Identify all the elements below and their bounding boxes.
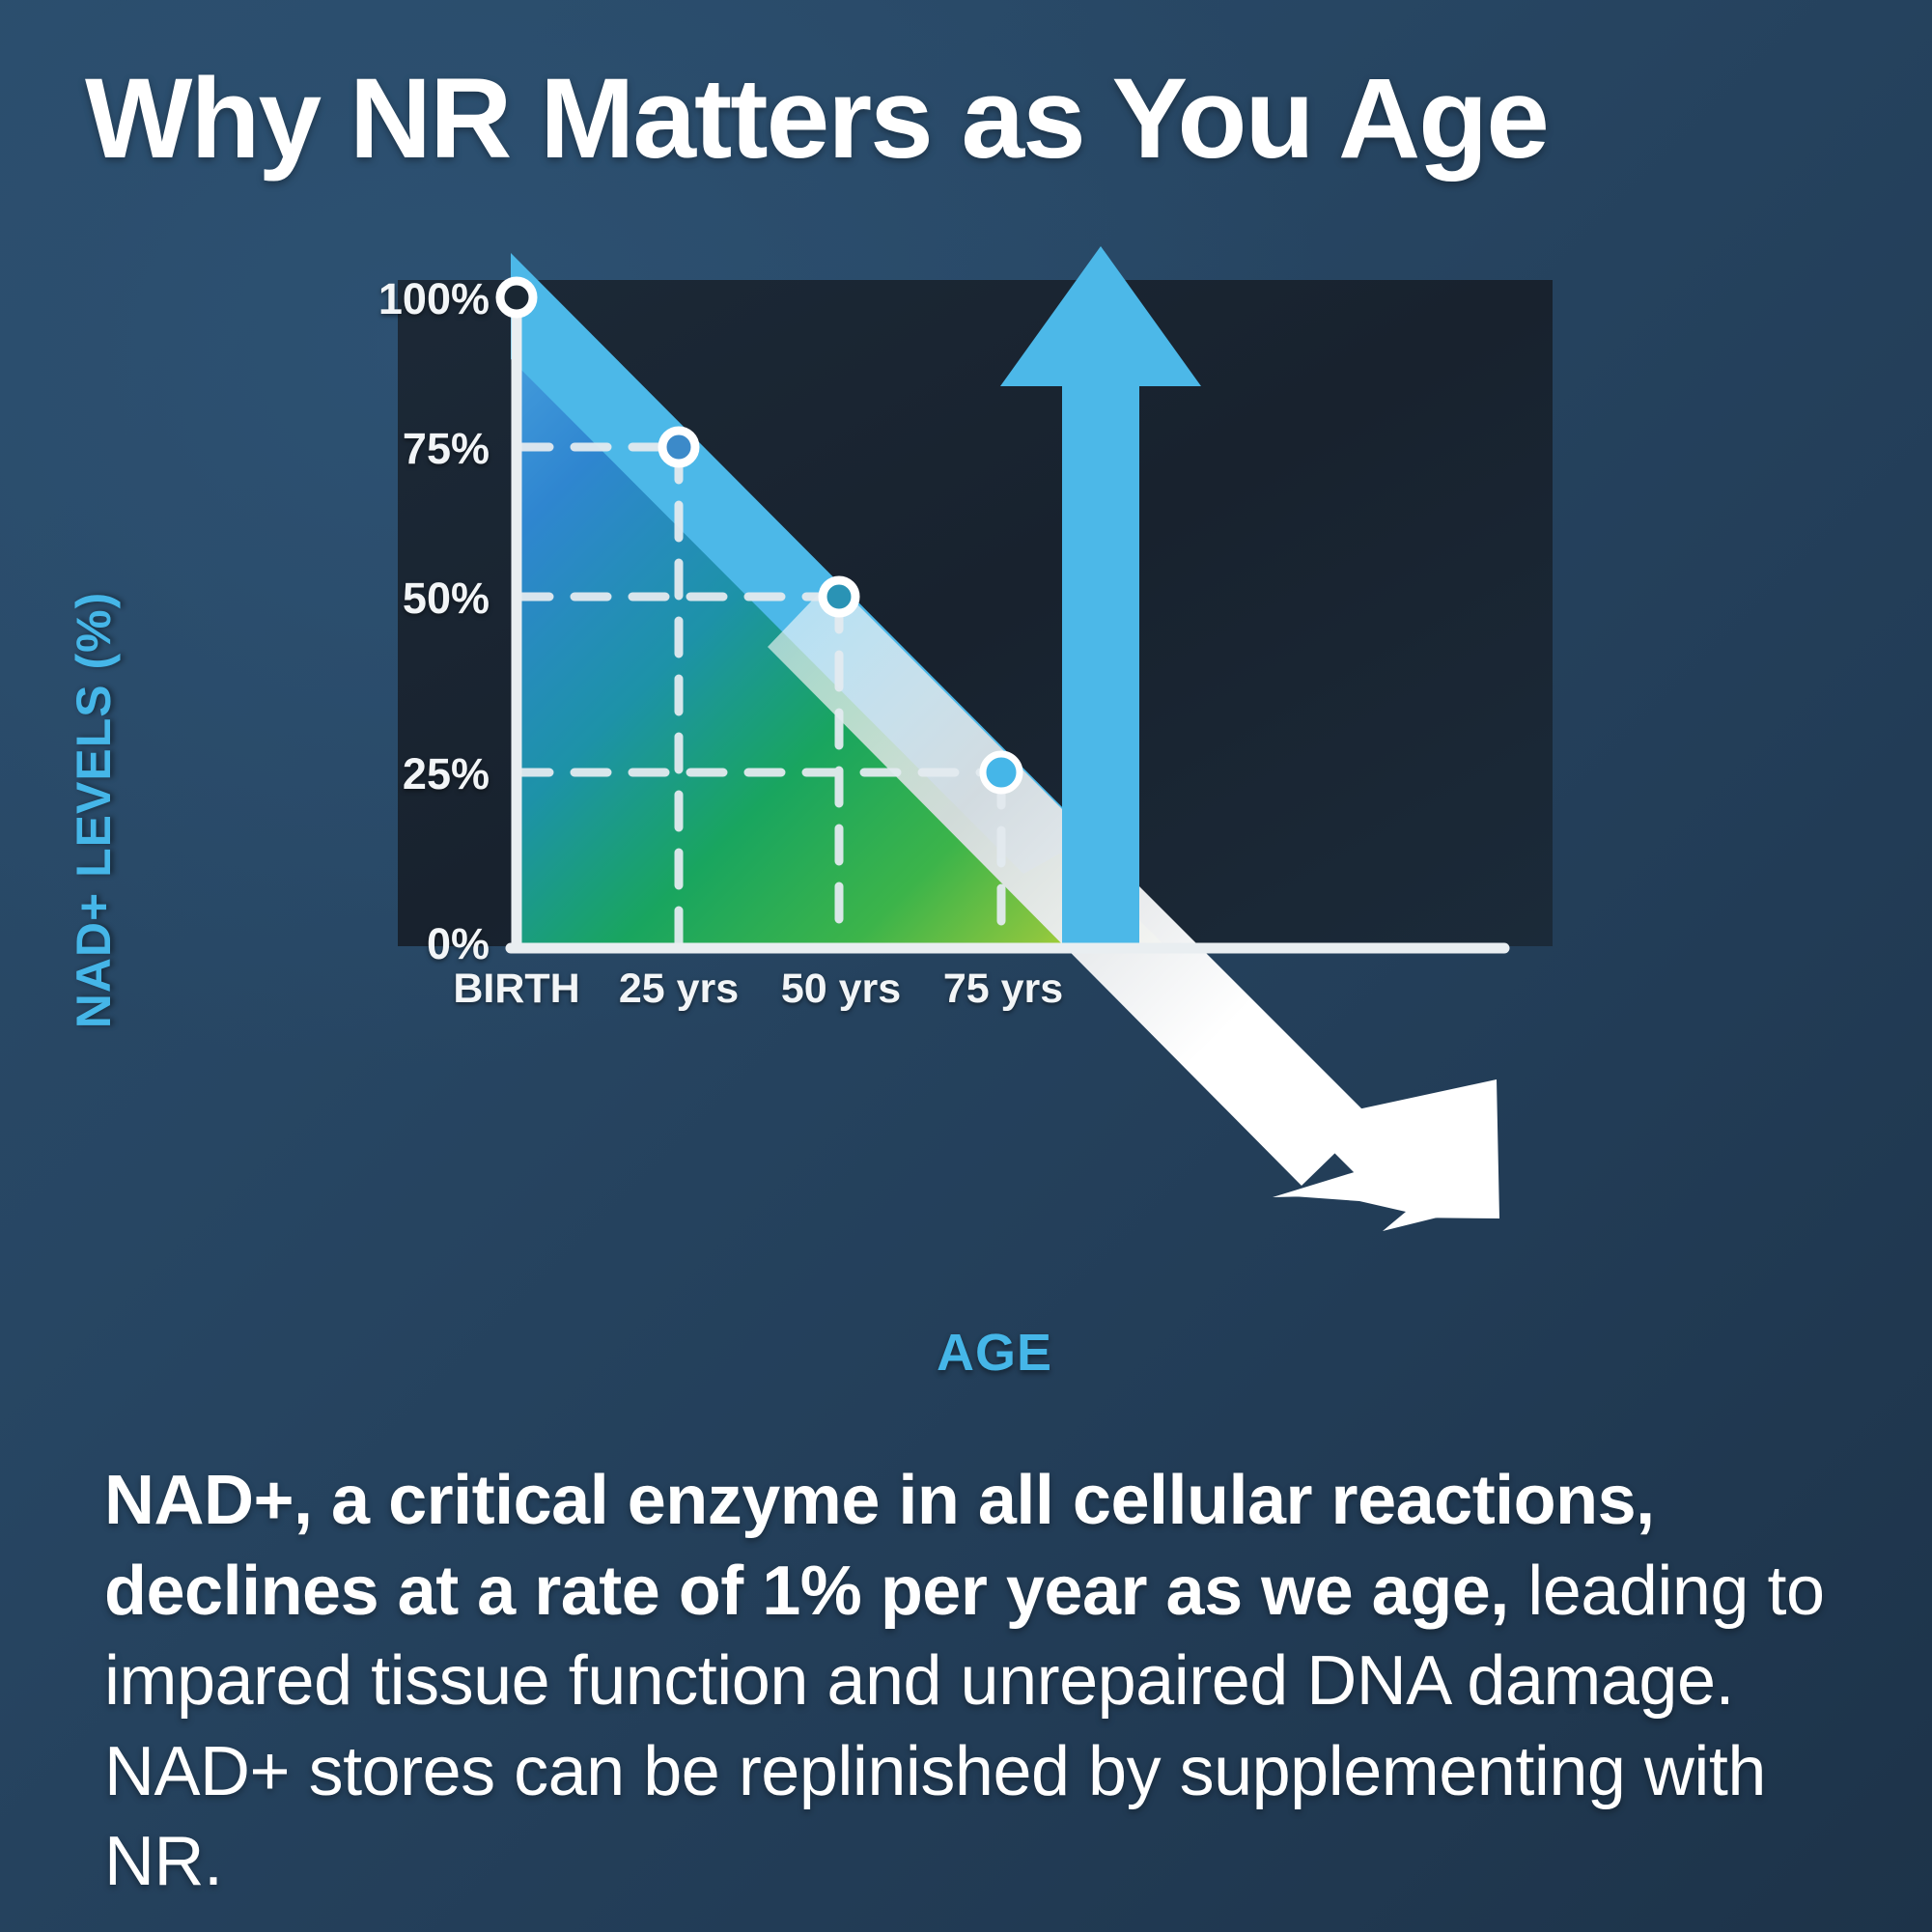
body-paragraph: NAD+, a critical enzyme in all cellular … [104, 1456, 1852, 1908]
y-axis-title: NAD+ LEVELS (%) [66, 559, 122, 1061]
y-tick-label-100: 100% [345, 274, 490, 324]
x-tick-label-75yrs: 75 yrs [878, 966, 1129, 1013]
infographic-page: Why NR Matters as You Age [0, 0, 1932, 1932]
white-decline-arrow-head-fill [1273, 1079, 1499, 1218]
body-paragraph-bold: NAD+, a critical enzyme in all cellular … [104, 1462, 1655, 1630]
y-tick-label-0: 0% [345, 919, 490, 969]
white-decline-arrow-head [1279, 1083, 1494, 1231]
page-title: Why NR Matters as You Age [85, 60, 1871, 180]
x-axis-title: AGE [869, 1323, 1120, 1383]
y-tick-label-50: 50% [345, 574, 490, 624]
y-tick-label-75: 75% [345, 424, 490, 474]
chart-panel-background [398, 280, 1553, 946]
y-tick-label-25: 25% [345, 749, 490, 799]
